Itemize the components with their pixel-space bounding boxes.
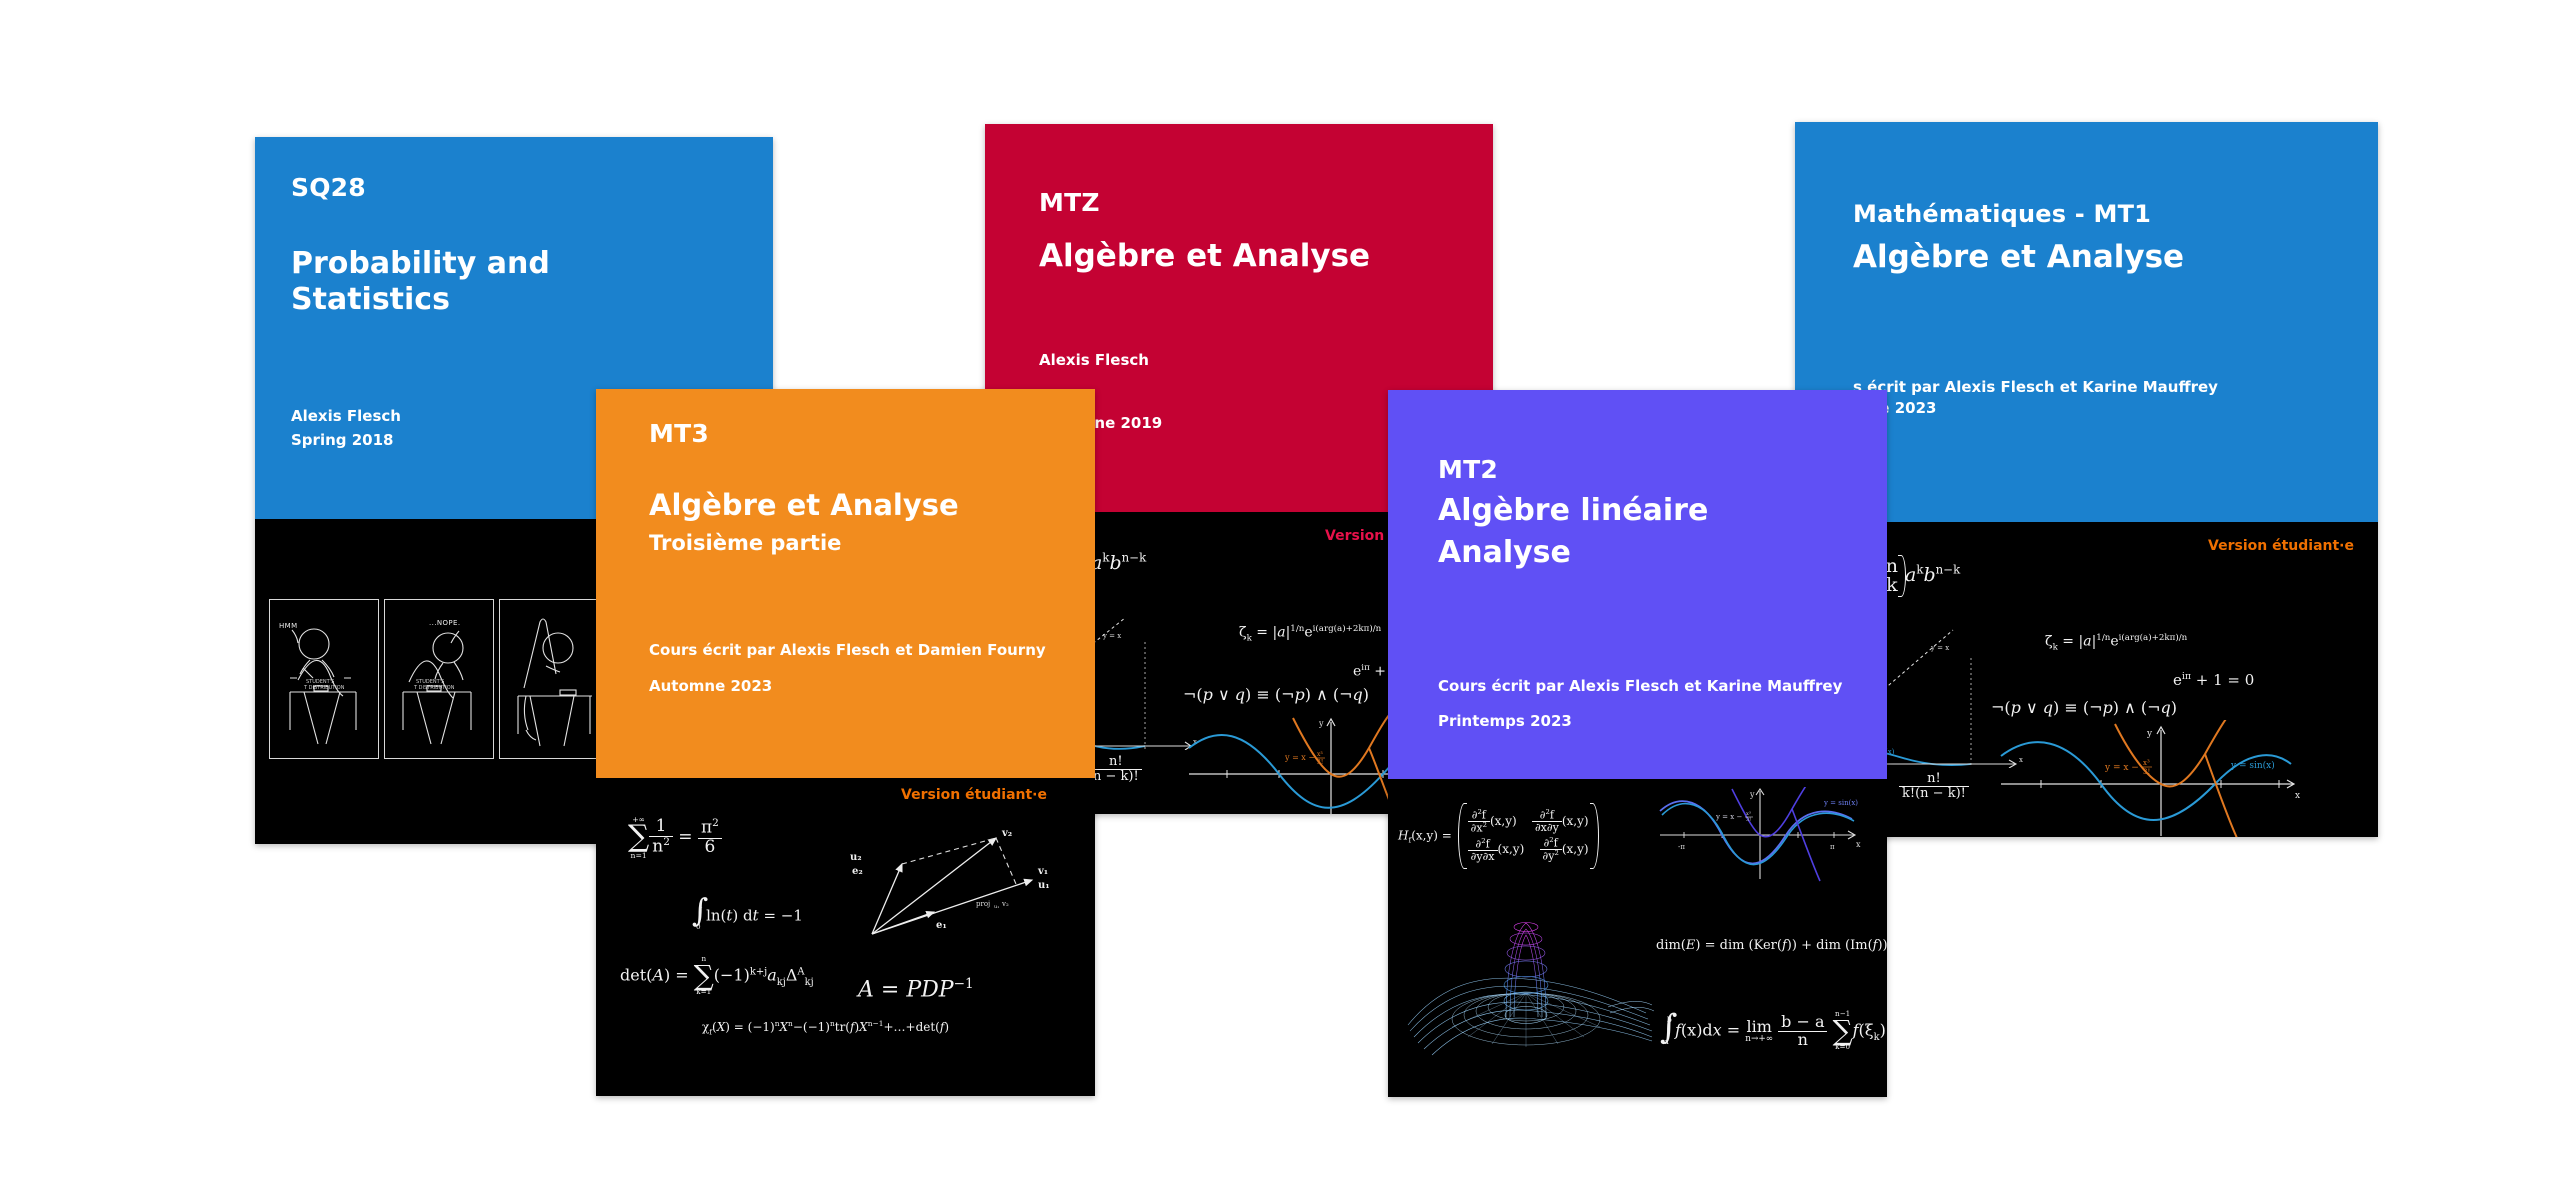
mt2-title-line1: Algèbre linéaire [1438, 494, 1708, 528]
svg-text:proj: proj [976, 900, 990, 908]
svg-text:x: x [2295, 791, 2300, 801]
mt3-color-panel: MT3 Algèbre et Analyse Troisième partie … [596, 389, 1095, 778]
svg-text:y = sin(x): y = sin(x) [1823, 799, 1858, 807]
sq28-title-line1: Probability and [291, 247, 550, 281]
mt3-subject: MT3 [649, 419, 709, 448]
svg-text:e₁: e₁ [936, 920, 947, 931]
svg-text:v₂: v₂ [1001, 900, 1009, 908]
mt3-date: Automne 2023 [649, 677, 772, 695]
svg-text:x: x [1856, 840, 1861, 849]
formula-diagonalization: A = PDP−1 [858, 978, 974, 1001]
sq28-author: Alexis Flesch [291, 407, 401, 425]
mt1-version-tag: Version étudiant·e [2208, 538, 2354, 554]
svg-text:x³: x³ [1317, 751, 1323, 758]
svg-text:-π: -π [1678, 843, 1685, 851]
sq28-title-line2: Statistics [291, 283, 450, 317]
formula-roots-of-unity: ζk = |a|1/nei(arg(a)+2kπ)/n [1239, 625, 1381, 643]
svg-text:e₂: e₂ [852, 866, 863, 877]
svg-text:v₂: v₂ [1001, 828, 1012, 839]
svg-text:3!: 3! [1746, 817, 1751, 823]
mt3-author: Cours écrit par Alexis Flesch et Damien … [649, 641, 1046, 659]
mtz-subject: MTZ [1039, 188, 1100, 217]
svg-text:y: y [1318, 719, 1324, 728]
mt2-author: Cours écrit par Alexis Flesch et Karine … [1438, 677, 1842, 695]
plot-sine-taylor: x y -π π y = x − [1656, 787, 1876, 883]
mt1-title: Algèbre et Analyse [1853, 240, 2184, 275]
svg-text:y = x −: y = x − [1715, 813, 1742, 821]
mt3-version-tag: Version étudiant·e [901, 787, 1047, 803]
svg-text:u₂: u₂ [850, 852, 862, 863]
mt3-illustration-panel: Version étudiant·e +∞∑n=11n2 = π26 ∫10 l… [596, 778, 1095, 1096]
mt2-illustration-panel: Hf(x,y) = ∂2f∂x2(x,y) ∂2f∂x∂y(x,y) ∂2f∂y… [1388, 779, 1887, 1097]
mt2-date: Printemps 2023 [1438, 712, 1572, 730]
svg-text:y = sin(x): y = sin(x) [2230, 760, 2275, 771]
sq28-subject: SQ28 [291, 173, 366, 202]
formula-characteristic-polynomial: χf(X) = (−1)nXn−(−1)ntr(f)Xn−1+…+det(f) [702, 1020, 949, 1036]
svg-text:y: y [1749, 790, 1755, 799]
svg-text:u₁: u₁ [1038, 880, 1050, 891]
svg-text:u₁: u₁ [994, 904, 999, 910]
formula-log-integral: ∫10 ln(t) dt = −1 [692, 902, 803, 931]
formula-rank-nullity: dim(E) = dim (Ker(f)) + dim (Im(f)) [1656, 939, 1887, 952]
comic-panel-1: HMM STUDENT'S T DIS [269, 599, 379, 759]
cover-card-mt2[interactable]: MT2 Algèbre linéaire Analyse Cours écrit… [1388, 390, 1887, 1097]
covers-gallery: SQ28 Probability and Statistics Alexis F… [0, 0, 2576, 1200]
cover-card-mt3[interactable]: MT3 Algèbre et Analyse Troisième partie … [596, 389, 1095, 1096]
svg-text:T DISTRIBUTION: T DISTRIBUTION [413, 685, 455, 691]
plot-3d-surface [1402, 887, 1662, 1077]
svg-text:T DISTRIBUTION: T DISTRIBUTION [303, 685, 345, 691]
mt2-color-panel: MT2 Algèbre linéaire Analyse Cours écrit… [1388, 390, 1887, 779]
formula-arrangements: n!n − k)! [1090, 755, 1142, 783]
mt3-title: Algèbre et Analyse [649, 489, 959, 521]
svg-text:x³: x³ [2143, 759, 2150, 767]
formula-riemann-sum: ∫ba f(x)dx = lim n→+∞ b − an n−1∑k=0f(ξk… [1660, 1011, 1886, 1051]
mt3-subtitle: Troisième partie [649, 531, 841, 555]
formula-euler-identity: eiπ + 1 = 0 [2173, 672, 2254, 688]
svg-text:π: π [1830, 843, 1835, 851]
svg-text:v₁: v₁ [1037, 866, 1048, 877]
comic-panel-2: ...NOPE. STUDENT'S T DISTRIBUTION [384, 599, 494, 759]
formula-hessian: Hf(x,y) = ∂2f∂x2(x,y) ∂2f∂x∂y(x,y) ∂2f∂y… [1398, 809, 1601, 863]
formula-combinations: n!k!(n − k)! [1899, 772, 1969, 800]
comic-panel-3 [499, 599, 609, 759]
mtz-author: Alexis Flesch [1039, 351, 1149, 369]
mt2-subject: MT2 [1438, 455, 1498, 484]
mt1-subject: Mathématiques - MT1 [1853, 200, 2151, 228]
svg-text:y = x −: y = x − [1284, 753, 1315, 762]
formula-de-morgan: ¬(p ∨ q) ≡ (¬p) ∧ (¬q) [1183, 687, 1369, 703]
formula-basel-series: +∞∑n=11n2 = π26 [628, 816, 722, 859]
svg-text:y = x −: y = x − [2104, 763, 2139, 773]
mt2-title-line2: Analyse [1438, 536, 1571, 570]
formula-determinant: det(A) = n∑k=1(−1)k+jakjΔAkj [620, 956, 814, 996]
svg-text:y = x: y = x [1102, 632, 1121, 640]
comic-strip: HMM STUDENT'S T DIS [269, 599, 609, 759]
formula-roots-of-unity: ζk = |a|1/nei(arg(a)+2kπ)/n [2045, 634, 2187, 652]
svg-text:y: y [2146, 729, 2153, 739]
svg-text:3!: 3! [1317, 759, 1323, 766]
sq28-date: Spring 2018 [291, 431, 393, 449]
mt1-author: s écrit par Alexis Flesch et Karine Mauf… [1853, 378, 2218, 396]
svg-text:y = x: y = x [1930, 644, 1949, 652]
svg-text:3!: 3! [2143, 768, 2150, 776]
diagram-gram-schmidt: v₂ u₂ e₂ v₁ u₁ e₁ proj u₁ v₂ [836, 816, 1086, 966]
mtz-title: Algèbre et Analyse [1039, 239, 1370, 274]
plot-sine-taylor: x y y = x − x³ 3! [1993, 720, 2323, 837]
